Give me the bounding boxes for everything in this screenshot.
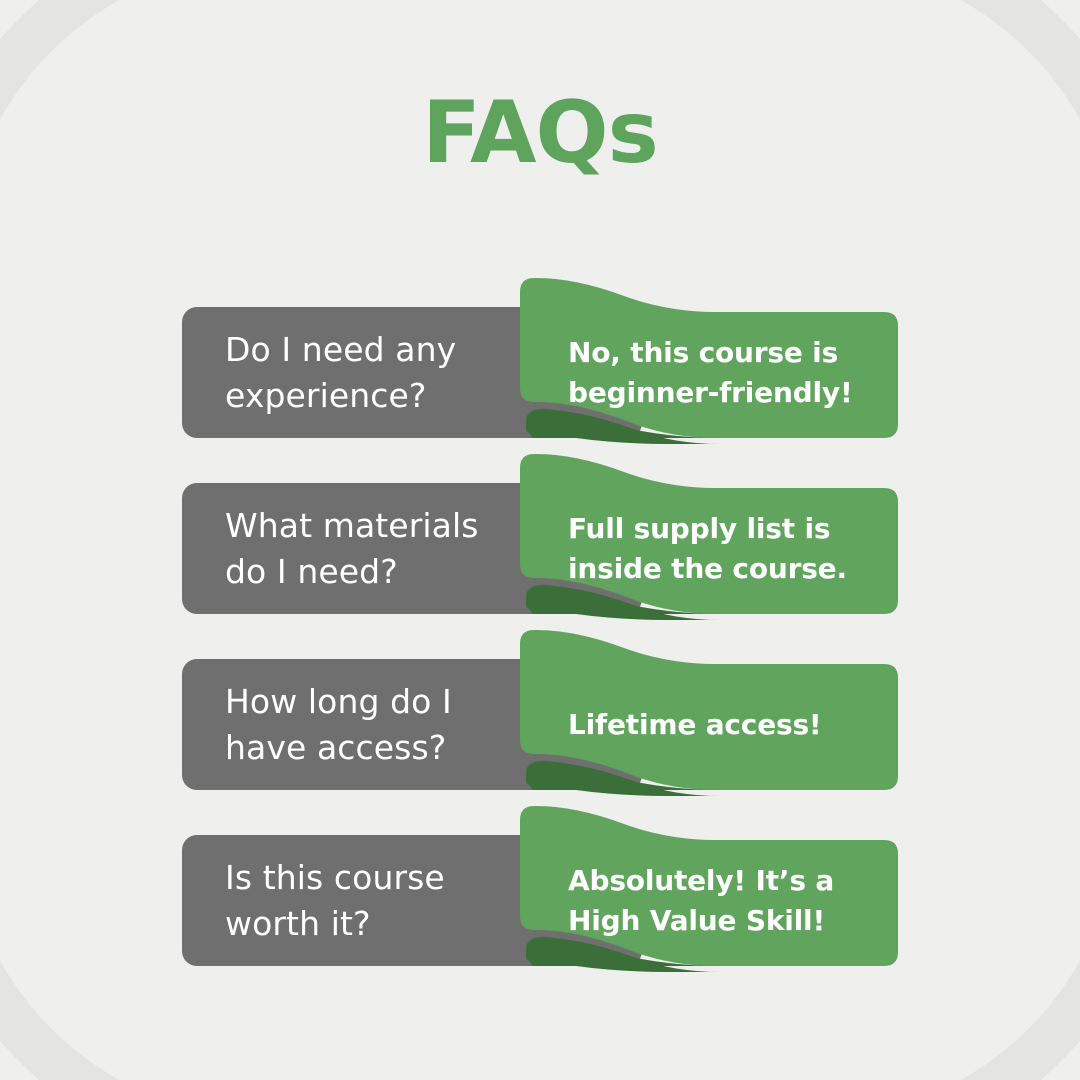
faq-row: What materials do I need? Full supply li…	[0, 454, 1080, 654]
faq-answer-card[interactable]: No, this course is beginner-friendly!	[520, 278, 904, 478]
faq-graphic: FAQs Do I need any experience? No, this …	[0, 0, 1080, 1080]
faq-answer-card[interactable]: Lifetime access!	[520, 630, 904, 830]
faq-answer-text: Absolutely! It’s a High Value Skill!	[568, 835, 888, 966]
faq-answer-text: Lifetime access!	[568, 659, 888, 790]
faq-list: Do I need any experience? No, this cours…	[0, 0, 1080, 1080]
faq-row: Do I need any experience? No, this cours…	[0, 278, 1080, 478]
faq-answer-text: No, this course is beginner-friendly!	[568, 307, 888, 438]
faq-row: How long do I have access? Lifetime acce…	[0, 630, 1080, 830]
faq-answer-card[interactable]: Full supply list is inside the course.	[520, 454, 904, 654]
faq-answer-text: Full supply list is inside the course.	[568, 483, 888, 614]
faq-row: Is this course worth it? Absolutely! It’…	[0, 806, 1080, 1006]
faq-answer-card[interactable]: Absolutely! It’s a High Value Skill!	[520, 806, 904, 1006]
